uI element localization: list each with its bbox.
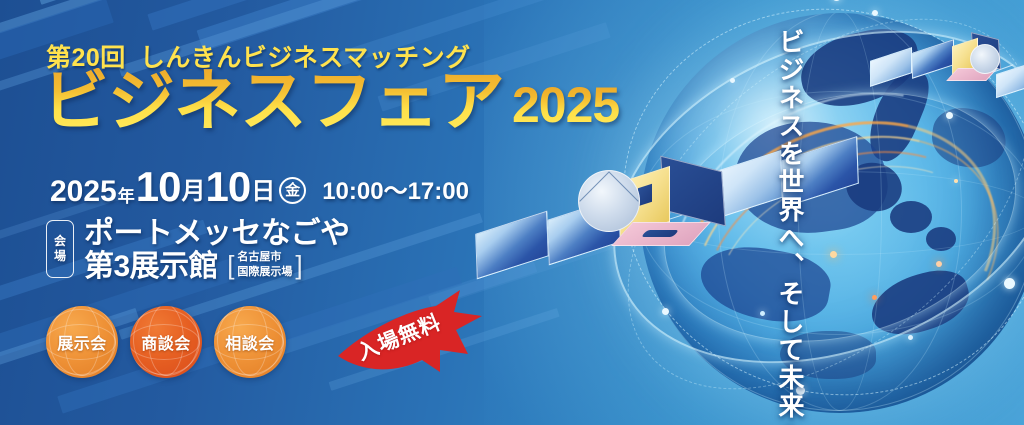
- venue-subtitle: [ 名古屋市 国際展示場 ]: [227, 250, 302, 280]
- title-main: ビジネスフェア: [42, 68, 504, 135]
- page-title: ビジネスフェア 2025: [42, 68, 619, 135]
- date-month-unit: 月: [181, 180, 205, 204]
- venue-label-char2: 場: [54, 249, 66, 264]
- date-year-unit: 年: [118, 188, 135, 205]
- venue-city: 名古屋市: [237, 250, 292, 265]
- date-year: 2025: [50, 177, 117, 207]
- satellite-icon: [868, 24, 1024, 134]
- venue-label-badge: 会 場: [46, 220, 74, 278]
- date-day: 10: [205, 168, 250, 207]
- banner-text-content: 第20回しんきんビジネスマッチング ビジネスフェア 2025 2025 年 10…: [0, 0, 520, 425]
- venue-label-char1: 会: [54, 234, 66, 249]
- badge-label: 相談会: [225, 330, 275, 354]
- venue-hall: 第3展示館: [84, 251, 218, 283]
- badge-label: 展示会: [57, 330, 107, 354]
- date-day-unit: 日: [251, 180, 275, 204]
- date-month: 10: [136, 168, 181, 207]
- vertical-tagline: ビジネスを世界へ、そして未来へ！: [764, 28, 804, 400]
- title-year: 2025: [512, 80, 619, 130]
- badge-exhibition[interactable]: 展示会: [46, 306, 118, 378]
- date-day-of-week: 金: [279, 177, 306, 204]
- bracket-close: ]: [295, 252, 302, 278]
- event-feature-badges: 展示会 商談会 相談会: [46, 306, 286, 378]
- bracket-open: [: [227, 252, 234, 278]
- event-time: 10:00〜17:00: [322, 180, 469, 204]
- venue-facility: 国際展示場: [237, 265, 292, 280]
- badge-consultation[interactable]: 相談会: [214, 306, 286, 378]
- badge-label: 商談会: [141, 330, 191, 354]
- event-venue: 会 場 ポートメッセなごや 第3展示館 [ 名古屋市 国際展示場 ]: [46, 218, 350, 282]
- event-date: 2025 年 10 月 10 日 金 10:00〜17:00: [50, 168, 469, 207]
- venue-name: ポートメッセなごや: [84, 218, 350, 250]
- badge-business-meeting[interactable]: 商談会: [130, 306, 202, 378]
- business-fair-banner: 第20回しんきんビジネスマッチング ビジネスフェア 2025 2025 年 10…: [0, 0, 1024, 425]
